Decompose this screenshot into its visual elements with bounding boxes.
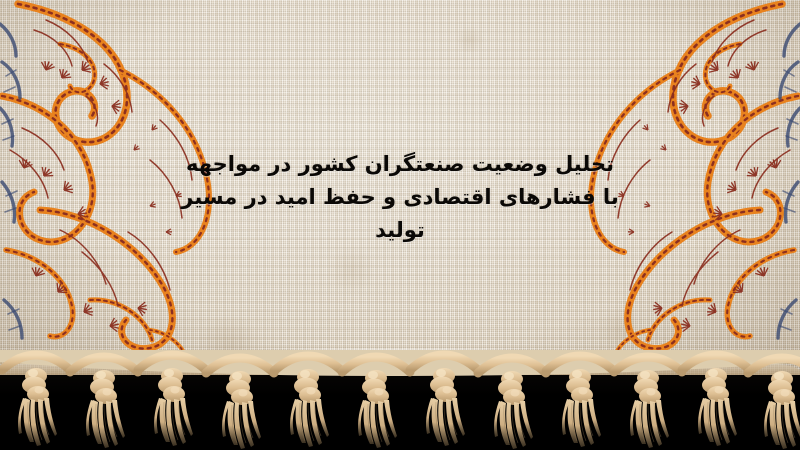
title-line-1: تحلیل وضعیت صنعتگران کشور در مواجهه bbox=[150, 148, 650, 181]
title-line-3: تولید bbox=[150, 214, 650, 247]
tassel-fringe bbox=[0, 350, 800, 450]
banner-title: تحلیل وضعیت صنعتگران کشور در مواجهه با ف… bbox=[150, 148, 650, 247]
textile-banner: تحلیل وضعیت صنعتگران کشور در مواجهه با ف… bbox=[0, 0, 800, 450]
title-line-2: با فشارهای اقتصادی و حفظ امید در مسیر bbox=[150, 181, 650, 214]
